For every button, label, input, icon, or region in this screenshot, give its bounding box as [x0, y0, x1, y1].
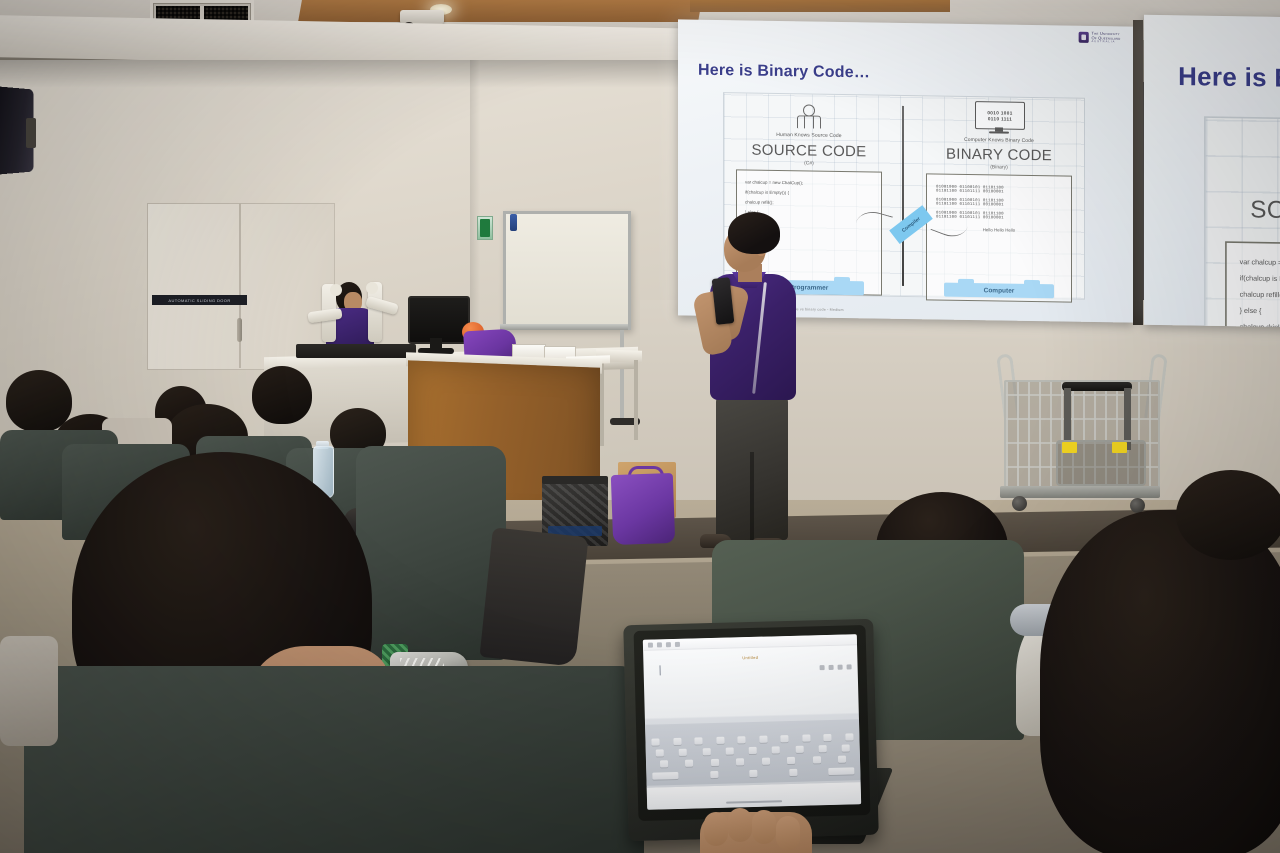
whiteboard-tray — [500, 324, 628, 330]
binary-heading: BINARY CODE — [914, 145, 1084, 165]
format-icon[interactable] — [820, 665, 825, 670]
lecture-seat[interactable] — [24, 666, 644, 853]
key[interactable] — [842, 744, 850, 751]
seat-tablet-arm[interactable] — [479, 527, 588, 666]
source-code-line: if(chalcup is Empty()) { — [1240, 274, 1280, 285]
key[interactable] — [749, 747, 757, 754]
uq-crest-icon — [1078, 32, 1088, 43]
tablet-keyboard[interactable]: Note — [645, 719, 861, 786]
key[interactable] — [762, 758, 770, 765]
person-icon — [796, 104, 822, 128]
whiteboard-leg-right — [620, 330, 624, 422]
key[interactable] — [789, 769, 797, 776]
key[interactable] — [812, 756, 820, 763]
ceiling-wood-panel-right — [690, 0, 950, 12]
purple-tote-bag — [611, 473, 675, 545]
audience-head — [6, 370, 72, 432]
diagram-column-binary: 0010 1001 0110 1111 Computer Knows Binar… — [914, 96, 1084, 299]
text-cursor — [659, 665, 660, 675]
tablet-screen[interactable]: Untitled Note — [643, 634, 861, 810]
slide-title-secondary: Here is Binary Code… — [1178, 64, 1280, 98]
slide-secondary: Here is Binary Code… Human Knows Source … — [1144, 15, 1280, 327]
binary-subheading: (Binary) — [914, 163, 1084, 172]
more-icon[interactable] — [847, 664, 852, 669]
key[interactable] — [702, 748, 710, 755]
key[interactable] — [694, 737, 702, 744]
trolley-warning-tab-left — [1062, 442, 1077, 453]
door-split-line — [239, 203, 241, 368]
side-table-leg-2 — [634, 360, 638, 440]
add-icon[interactable] — [838, 665, 843, 670]
undo-icon[interactable] — [657, 642, 662, 647]
presenter-hair — [728, 212, 780, 254]
key[interactable] — [787, 757, 795, 764]
monitor-bits-line1: 0010 1001 — [987, 110, 1012, 115]
source-code-line: chalcup refill(); — [745, 199, 873, 206]
tablet-document-title: Untitled — [643, 652, 857, 663]
foreground-audience-head — [1040, 510, 1280, 853]
binary-line: 01101100 01101111 00100001 — [936, 189, 1062, 195]
key[interactable] — [710, 771, 718, 778]
whiteboard-marker-icon — [510, 214, 517, 231]
pen-icon[interactable] — [829, 665, 834, 670]
door-sign-label: AUTOMATIC SLIDING DOOR — [152, 295, 247, 305]
trolley-warning-tab-right — [1112, 442, 1127, 453]
source-heading-secondary: SOURCE CODE — [1206, 196, 1280, 228]
robot-joint-left — [330, 284, 342, 296]
key[interactable] — [651, 738, 659, 745]
home-indicator[interactable] — [726, 800, 782, 803]
presenter-leg-split — [750, 452, 754, 540]
key[interactable] — [795, 746, 803, 753]
key[interactable] — [738, 736, 746, 743]
key[interactable] — [818, 745, 826, 752]
trolley-inner-handle[interactable] — [1062, 382, 1132, 391]
return-key[interactable] — [828, 767, 854, 775]
slide-diagram-secondary: Human Knows Source Code SOURCE CODE (C#)… — [1204, 116, 1280, 327]
door-handle[interactable] — [237, 318, 242, 342]
source-subheading: (C#) — [724, 159, 894, 168]
slide-title: Here is Binary Code… — [698, 62, 870, 83]
trolley-deck — [1000, 486, 1160, 498]
door-sign: AUTOMATIC SLIDING DOOR — [152, 295, 247, 305]
binary-line: 01101100 01101111 00100001 — [936, 202, 1062, 208]
key[interactable] — [749, 770, 757, 777]
key[interactable] — [660, 760, 668, 767]
key[interactable] — [656, 749, 664, 756]
screen-gap — [1133, 20, 1143, 325]
exit-sign-icon — [477, 216, 493, 240]
tablet-toolbar-right[interactable] — [820, 664, 852, 670]
source-subheading-secondary: (C#) — [1206, 225, 1280, 239]
source-icon-caption: Human Knows Source Code — [724, 131, 894, 140]
audience-head — [1176, 470, 1280, 560]
ceiling-wood-panel — [298, 0, 702, 22]
binary-icon-caption: Computer Knows Binary Code — [914, 136, 1084, 145]
trolley-wheel-left — [1012, 496, 1027, 511]
key[interactable] — [759, 736, 767, 743]
projection-screen-secondary: Here is Binary Code… Human Knows Source … — [1144, 15, 1280, 327]
redo-icon[interactable] — [666, 642, 671, 647]
presenter — [694, 212, 810, 572]
key[interactable] — [736, 758, 744, 765]
key[interactable] — [824, 734, 832, 741]
source-code-line: } else { — [1240, 306, 1280, 317]
source-heading: SOURCE CODE — [724, 141, 894, 161]
shift-key[interactable] — [652, 772, 678, 780]
key[interactable] — [679, 749, 687, 756]
lecture-theatre-photo: AUTOMATIC SLIDING DOOR The University Of… — [0, 0, 1280, 853]
key[interactable] — [685, 760, 693, 767]
seat-side-panel — [0, 636, 58, 746]
uq-logo-icon: The University Of Queensland AUSTRALIA — [1078, 32, 1120, 44]
robot-arm-kit-base — [296, 344, 416, 358]
key[interactable] — [716, 737, 724, 744]
robot-joint-right — [366, 282, 378, 294]
key[interactable] — [802, 734, 810, 741]
key[interactable] — [845, 733, 853, 740]
whiteboard — [503, 211, 631, 330]
key[interactable] — [781, 735, 789, 742]
key[interactable] — [673, 738, 681, 745]
audience-head — [252, 366, 312, 424]
source-code-line: var chalcup = new ChatCup(); — [745, 179, 873, 186]
uq-brand-line3: AUSTRALIA — [1091, 40, 1120, 43]
source-code-line: if(chalcup is Empty()) { — [745, 189, 873, 196]
wall-corner-shadow — [470, 60, 480, 360]
share-icon[interactable] — [675, 641, 680, 646]
key[interactable] — [838, 756, 846, 763]
source-icon-caption-secondary: Human Knows Source Code — [1206, 179, 1280, 193]
foreground-hand — [700, 812, 812, 853]
key[interactable] — [725, 747, 733, 754]
desk-monitor — [408, 296, 470, 344]
diagram-column-source-secondary: Human Knows Source Code SOURCE CODE (C#)… — [1206, 118, 1280, 327]
source-code-line: var chalcup = new ChatCup(); — [1240, 258, 1280, 269]
source-code-box-secondary: var chalcup = new ChatCup(); if(chalcup … — [1225, 241, 1280, 327]
wall-shadow — [0, 60, 700, 88]
computer-tab-button[interactable]: Computer — [944, 283, 1054, 299]
monitor-bits-line2: 0110 1111 — [988, 116, 1012, 121]
back-icon[interactable] — [648, 642, 653, 647]
diagram-divider — [902, 106, 904, 286]
dark-crate-bag-top — [542, 476, 608, 484]
monitor-icon: 0010 1001 0110 1111 — [975, 101, 1023, 136]
source-code-line: chalcup refill(); — [1240, 290, 1280, 301]
speaker-bracket — [26, 118, 36, 148]
key[interactable] — [711, 759, 719, 766]
key[interactable] — [772, 746, 780, 753]
